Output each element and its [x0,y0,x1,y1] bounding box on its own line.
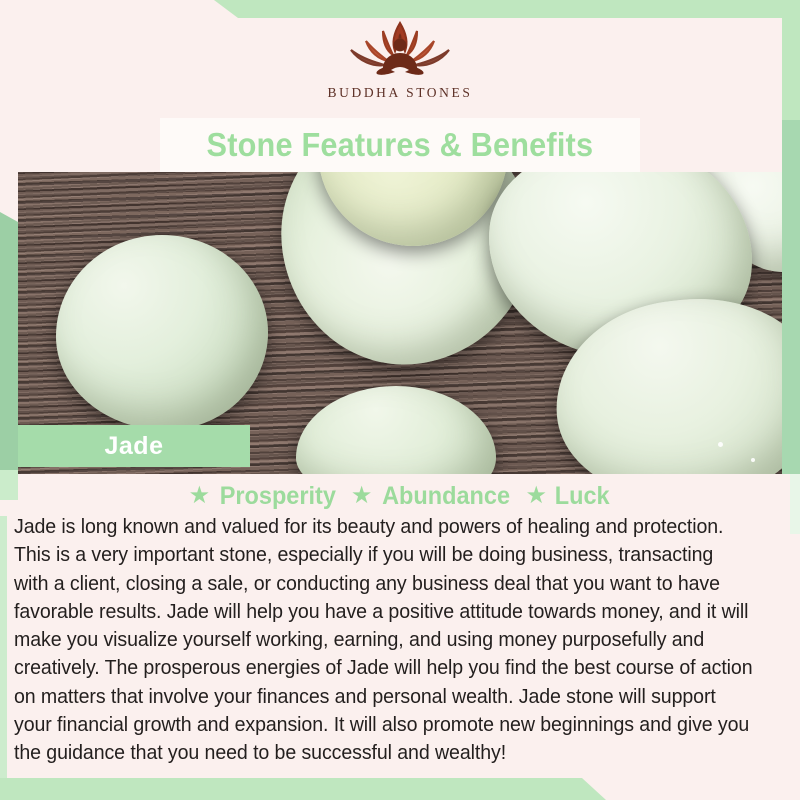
brand-name: BUDDHA STONES [328,85,473,101]
benefit-label: Abundance [382,482,510,511]
description-line: on matters that involve your finances an… [14,683,757,711]
description-line: with a client, closing a sale, or conduc… [14,570,757,598]
star-icon: ★ [525,484,547,508]
decor-left-bar [0,212,18,470]
star-icon: ★ [351,484,373,508]
benefit-label: Luck [555,482,610,511]
description-line: make you visualize yourself working, ear… [14,626,757,654]
sparkle-highlight [718,442,723,447]
benefits-row: ★ Prosperity ★ Abundance ★ Luck [0,479,800,513]
decor-bottom-left-band [0,778,606,800]
benefit-item-luck: ★ Luck [525,482,611,511]
description-text: Jade is long known and valued for its be… [14,513,792,768]
benefit-item-abundance: ★ Abundance [351,482,515,511]
description-line: the guidance that you need to be success… [14,739,757,767]
decor-body-left-edge [0,516,7,778]
page-title: Stone Features & Benefits [207,126,594,164]
star-icon: ★ [189,484,211,508]
benefit-item-prosperity: ★ Prosperity [189,482,340,511]
brand-header: BUDDHA STONES [0,0,800,118]
description-line: creatively. The prosperous energies of J… [14,654,757,682]
description-line: This is a very important stone, especial… [14,541,757,569]
infographic-page: BUDDHA STONES Stone Features & Benefits … [0,0,800,800]
description-line: your financial growth and expansion. It … [14,711,757,739]
benefit-label: Prosperity [220,482,336,511]
sparkle-highlight [751,458,755,462]
description-line: Jade is long known and valued for its be… [14,513,757,541]
description-line: favorable results. Jade will help you ha… [14,598,757,626]
title-banner: Stone Features & Benefits [160,118,640,172]
jade-stone [56,235,268,430]
stone-name-badge: Jade [18,425,250,467]
lotus-meditation-figure-icon [325,17,475,83]
stone-name-label: Jade [105,432,164,461]
